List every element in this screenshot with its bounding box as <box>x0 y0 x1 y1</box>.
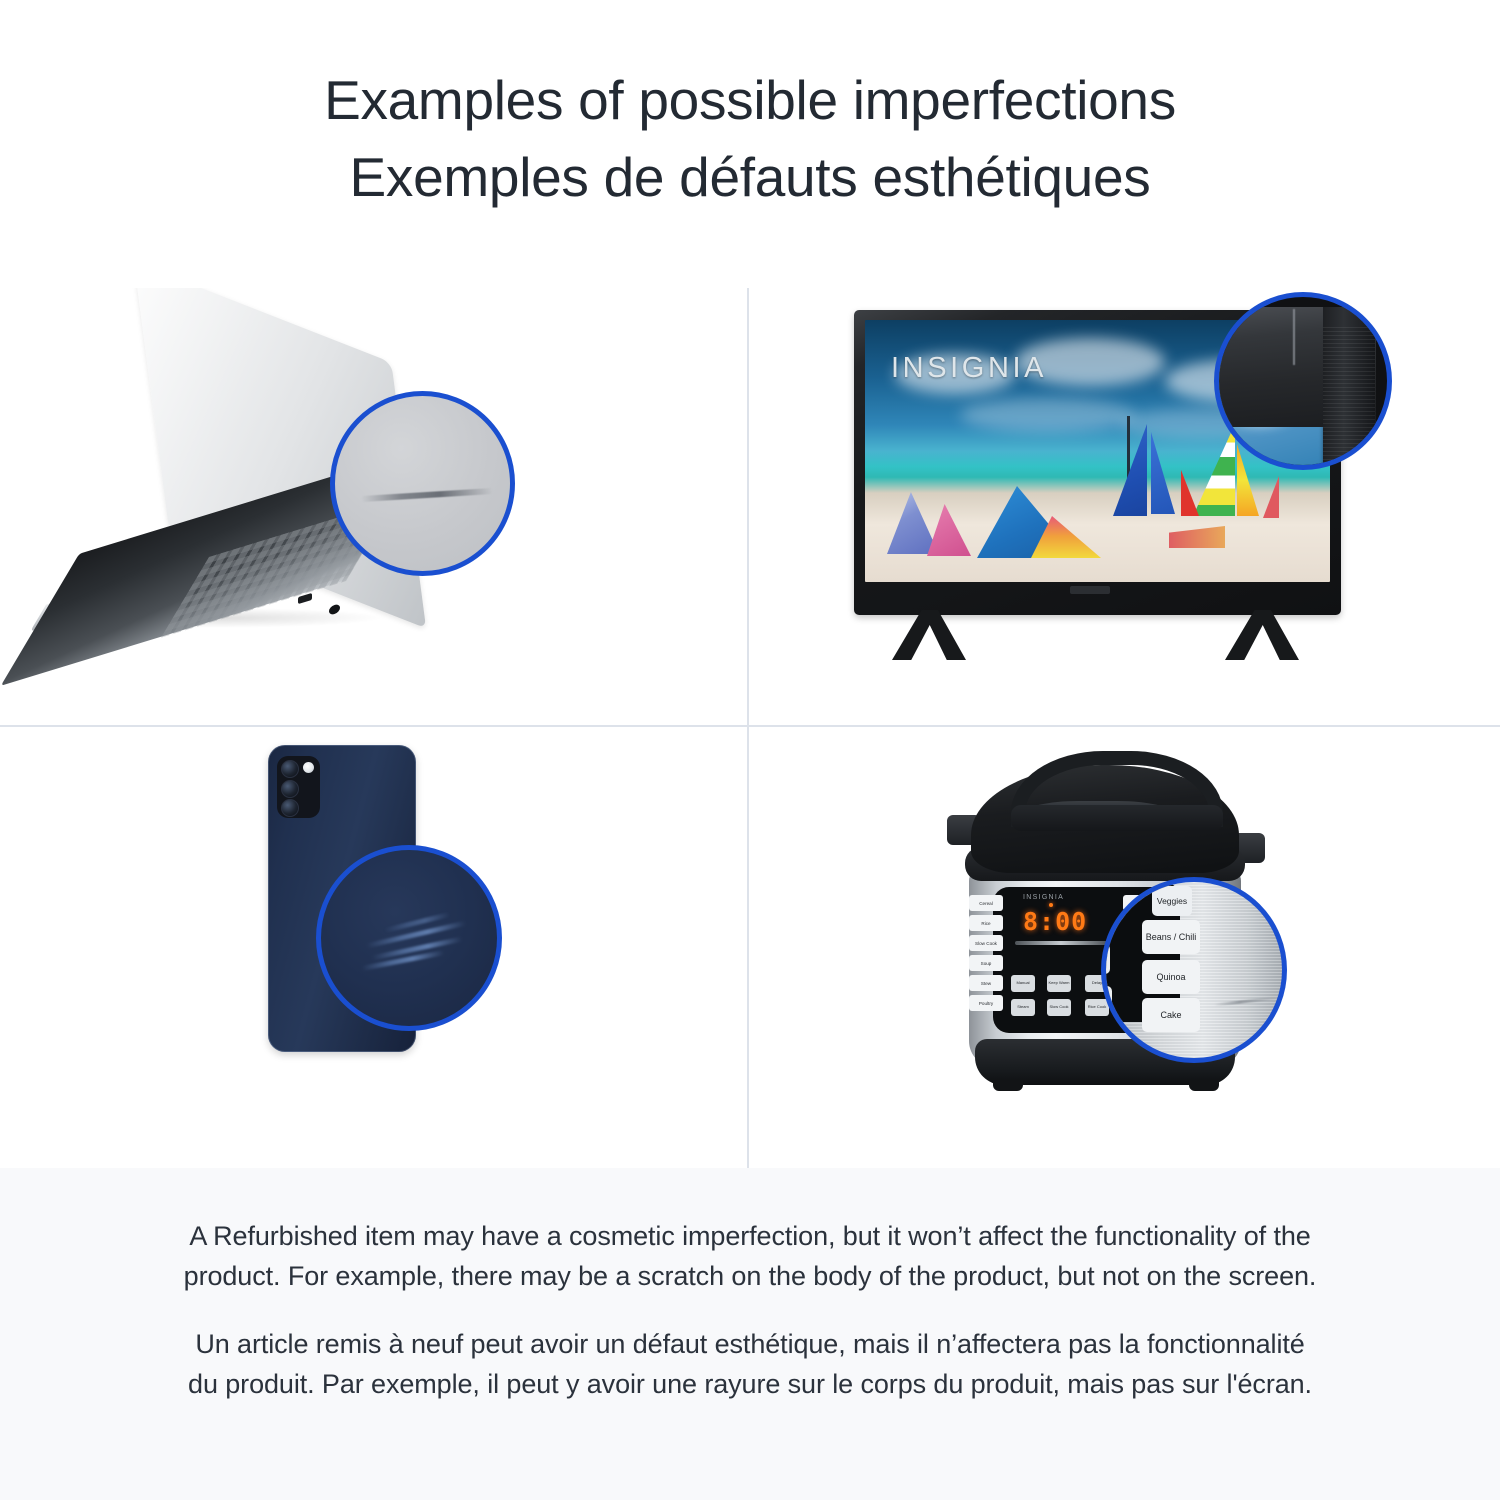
phone-camera-module <box>277 756 320 818</box>
title-line-french: Exemples de défauts esthétiques <box>0 139 1500 216</box>
cooker-magnified-button-delay-partial: elay <box>1101 944 1110 974</box>
cooker-foot-right <box>1189 1079 1219 1091</box>
quadrant-pressure-cooker: INSIGNIA 8:00 Cereal Rice Slow Cook Soup… <box>749 727 1500 1168</box>
product-examples-grid: INSIGNIA <box>0 288 1500 1168</box>
cooker-button-slowcook2[interactable]: Slow Cook <box>1047 999 1071 1016</box>
magnifier-circle-laptop <box>330 391 515 576</box>
cooker-led-display: 8:00 <box>1023 909 1095 935</box>
cooker-button-steam[interactable]: Steam <box>1011 999 1035 1016</box>
cooker-left-button-column[interactable]: Cereal Rice Slow Cook Soup Stew Poultry <box>969 895 1003 1011</box>
cooker-pressure-slider[interactable] <box>1015 941 1107 945</box>
screen-cloud <box>960 398 1135 432</box>
tv-stand-right <box>1225 610 1299 660</box>
footer-description-section: A Refurbished item may have a cosmetic i… <box>0 1168 1500 1500</box>
quadrant-laptop <box>0 288 747 725</box>
cooker-button-poultry[interactable]: Poultry <box>969 995 1003 1011</box>
kite-pink <box>927 504 971 556</box>
footer-paragraph-english: A Refurbished item may have a cosmetic i… <box>178 1216 1322 1296</box>
camera-lens-icon <box>281 760 299 778</box>
quadrant-television: INSIGNIA <box>749 288 1500 725</box>
magnifier-circle-pressure-cooker: Veggies Beans / Chili Quinoa Cake elay o… <box>1101 877 1287 1063</box>
tv-bezel-imperfection <box>1293 309 1295 365</box>
pressure-cooker-illustration: INSIGNIA 8:00 Cereal Rice Slow Cook Soup… <box>949 735 1319 1135</box>
cooker-button-cereal[interactable]: Cereal <box>969 895 1003 911</box>
beach-canopy <box>1169 526 1225 548</box>
cooker-button-manual[interactable]: Manual <box>1011 975 1035 992</box>
cooker-panel-brand: INSIGNIA <box>1023 894 1064 901</box>
sail-pink <box>1263 476 1279 518</box>
cooker-magnified-button-cake: Cake <box>1142 998 1200 1032</box>
cooker-magnified-button-beans-chili: Beans / Chili <box>1142 920 1200 954</box>
smartphone-illustration <box>268 745 498 1105</box>
page-title: Examples of possible imperfections Exemp… <box>0 62 1500 216</box>
laptop-scratch-mark <box>361 488 493 502</box>
cooker-foot-left <box>993 1079 1023 1091</box>
laptop-illustration <box>30 308 550 688</box>
quadrant-smartphone <box>0 727 747 1168</box>
camera-lens-icon <box>281 780 299 798</box>
camera-flash-icon <box>303 762 314 773</box>
cooker-magnified-button-veggies: Veggies <box>1152 886 1192 916</box>
television-illustration: INSIGNIA <box>854 310 1394 700</box>
cooker-lid-handle <box>1011 751 1223 827</box>
title-line-english: Examples of possible imperfections <box>0 62 1500 139</box>
cooker-button-keepwarm[interactable]: Keep Warm <box>1047 975 1071 992</box>
tv-logo-nub <box>1070 586 1110 594</box>
cooker-button-soup[interactable]: Soup <box>969 955 1003 971</box>
tv-bezel-grain <box>1323 327 1375 469</box>
camera-lens-icon <box>281 799 299 817</box>
cooker-button-stew[interactable]: Stew <box>969 975 1003 991</box>
sail-blue-small <box>1151 432 1175 514</box>
sail-blue <box>1113 424 1147 516</box>
cooker-button-slowcook[interactable]: Slow Cook <box>969 935 1003 951</box>
refurbished-imperfections-infographic: Examples of possible imperfections Exemp… <box>0 0 1500 1500</box>
tv-screen-logo: INSIGNIA <box>891 352 1047 385</box>
magnifier-circle-television <box>1214 292 1392 470</box>
cooker-magnified-button-quinoa: Quinoa <box>1142 960 1200 994</box>
magnifier-circle-smartphone <box>316 845 502 1031</box>
tv-stand-left <box>892 610 966 660</box>
footer-paragraph-french: Un article remis à neuf peut avoir un dé… <box>178 1324 1322 1404</box>
cooker-button-rice[interactable]: Rice <box>969 915 1003 931</box>
